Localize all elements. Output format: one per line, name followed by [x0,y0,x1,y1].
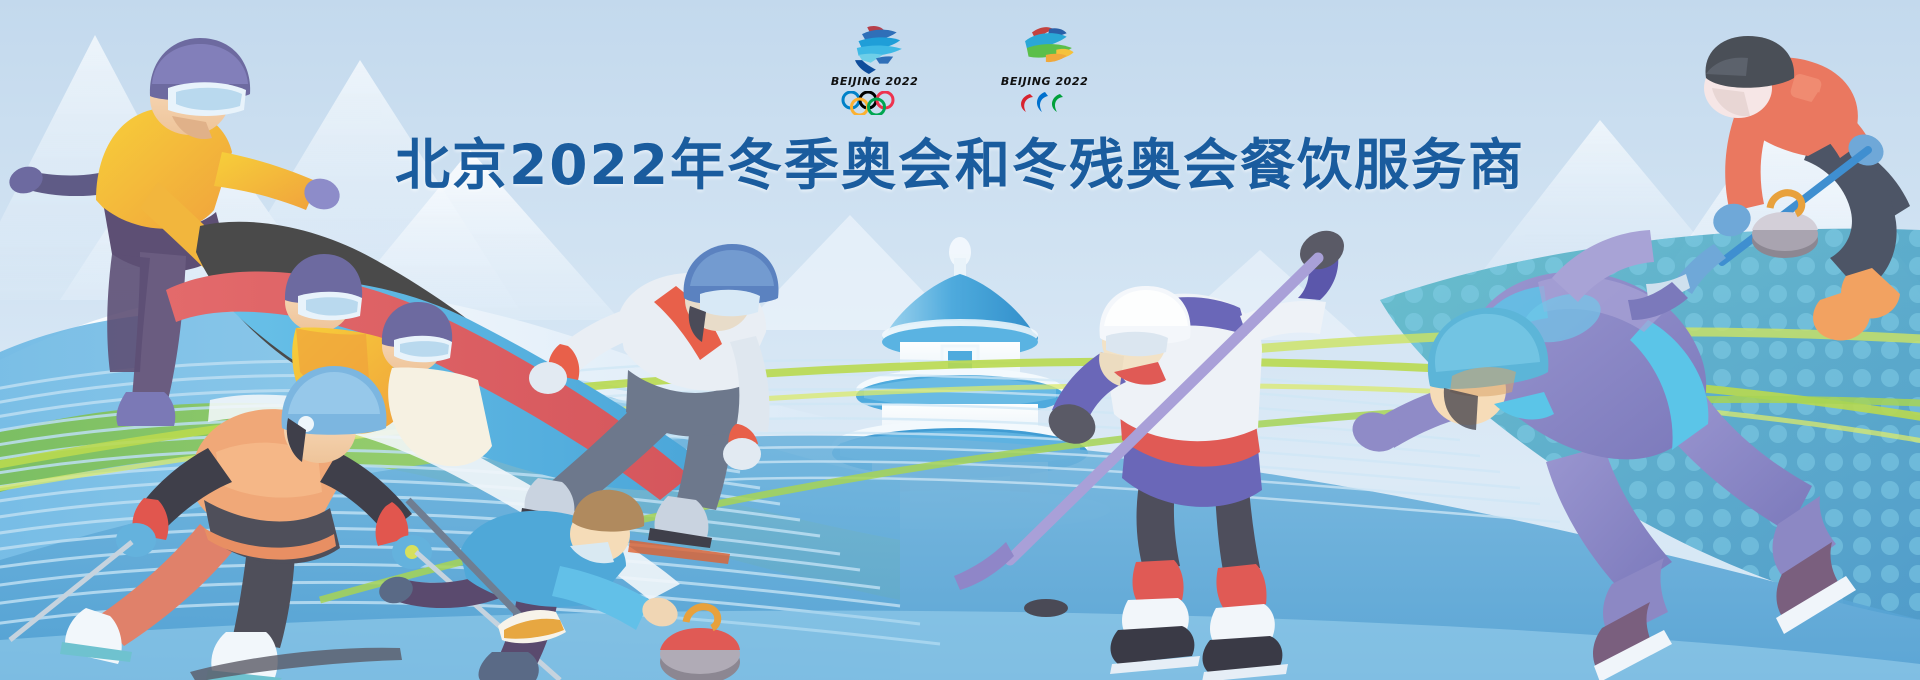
olympic-emblem-block: BEIJING 2022 [819,22,931,115]
beijing-2022-paralympic-emblem-icon [1005,22,1085,74]
olympic-wordmark: BEIJING 2022 [831,76,918,88]
olympic-rings-icon [838,91,912,115]
agitos-icon [1016,91,1074,115]
ice-hockey-player [954,223,1351,680]
olympic-banner: BEIJING 2022 BEIJING 20 [0,0,1920,680]
paralympic-emblem-block: BEIJING 2022 [989,22,1101,115]
speed-skater-right [1347,230,1856,680]
page-title: 北京2022年冬季奥会和冬残奥会餐饮服务商 [0,120,1920,200]
paralympic-wordmark: BEIJING 2022 [1001,76,1088,88]
emblem-row: BEIJING 2022 BEIJING 20 [0,22,1920,115]
beijing-2022-olympic-emblem-icon [835,22,915,74]
